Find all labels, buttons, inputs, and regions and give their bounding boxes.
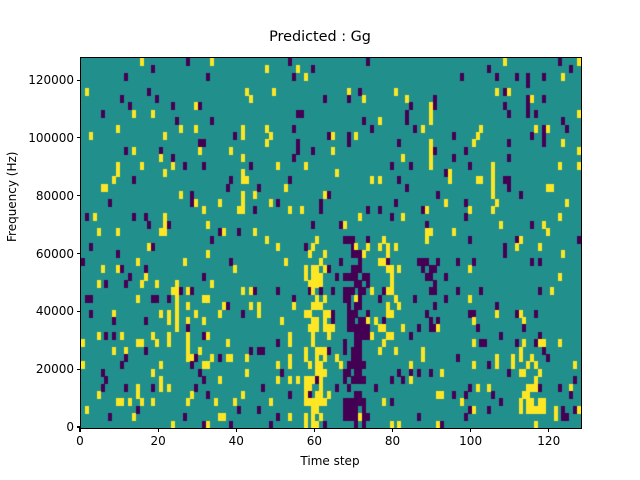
y-axis-title: Frequency (Hz): [6, 152, 19, 243]
y-axis-tick-label: 20000: [6, 363, 74, 375]
y-axis-tick-label: 120000: [6, 74, 74, 86]
page-title: Predicted : Gg: [0, 29, 640, 46]
heatmap-image: [81, 58, 581, 428]
x-axis-tick-label: 80: [385, 435, 400, 447]
x-axis-tick-label: 0: [76, 435, 84, 447]
heatmap-axes[interactable]: [80, 57, 582, 429]
figure-canvas: Predicted : Gg 0200004000060000800001000…: [0, 0, 640, 480]
y-axis-tick-label: 60000: [6, 248, 74, 260]
x-axis-tick-label: 20: [150, 435, 165, 447]
x-axis-tick-label: 60: [307, 435, 322, 447]
x-axis-tick-label: 100: [459, 435, 482, 447]
y-axis-tick-label: 0: [6, 421, 74, 433]
y-axis-tick-label: 100000: [6, 132, 74, 144]
x-axis-tick-label: 40: [229, 435, 244, 447]
x-axis-tick-label: 120: [537, 435, 560, 447]
x-axis-title: Time step: [80, 455, 580, 468]
y-axis-tick-label: 40000: [6, 305, 74, 317]
